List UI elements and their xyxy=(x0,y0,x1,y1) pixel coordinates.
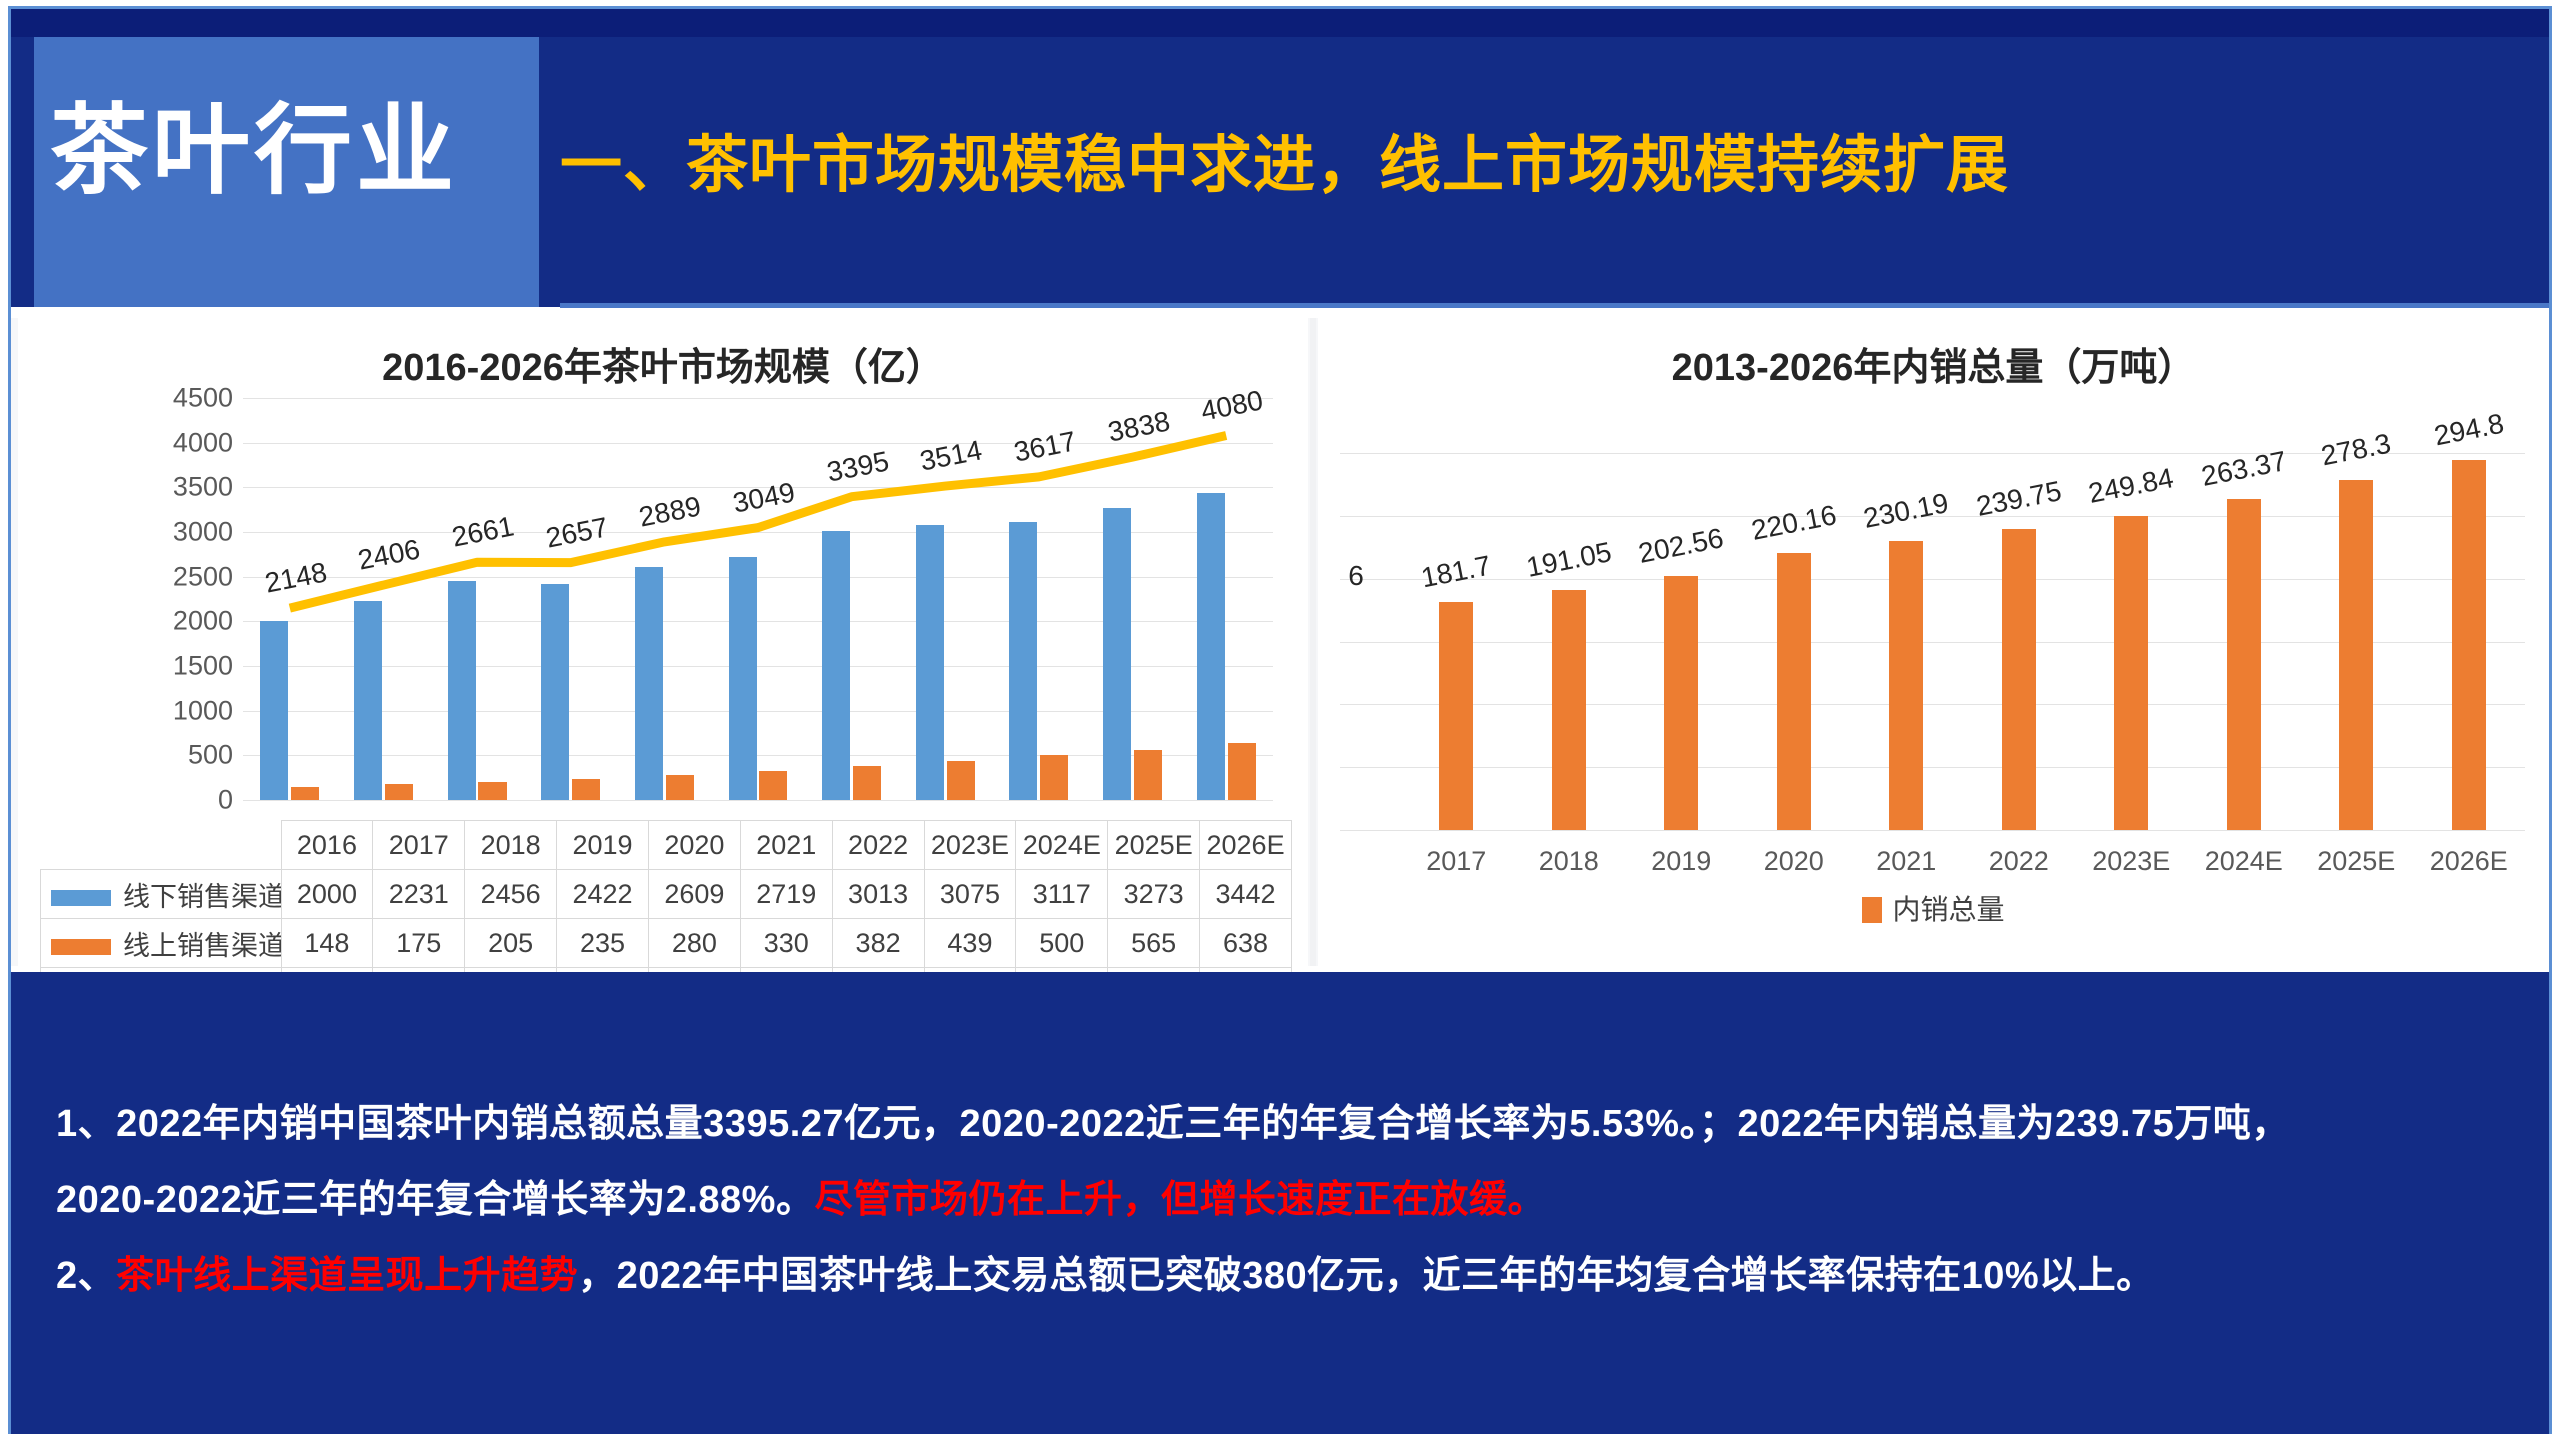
brand-title: 茶叶行业 xyxy=(50,80,530,220)
chart-domestic-sales: 2013-2026年内销总量（万吨） 6181.72017191.0520182… xyxy=(1318,318,2549,966)
bar-domestic-sales xyxy=(1439,602,1473,830)
table-cell: 382 xyxy=(832,919,924,968)
x-axis-tick: 2022 xyxy=(1989,846,2049,877)
table-header-cell: 2021 xyxy=(740,821,832,870)
total-line-series xyxy=(243,398,1273,800)
table-row-header: 20162017201820192020202120222023E2024E20… xyxy=(41,821,1292,870)
table-cell: 330 xyxy=(740,919,832,968)
bar-domestic-sales xyxy=(2114,516,2148,830)
chart-market-size: 2016-2026年茶叶市场规模（亿） 05001000150020002500… xyxy=(18,318,1308,966)
table-cell: 235 xyxy=(557,919,649,968)
page-title: 一、茶叶市场规模稳中求进，线上市场规模持续扩展 xyxy=(560,120,2460,212)
note-3-suffix: ，2022年中国茶叶线上交易总额已突破380亿元，近三年的年均复合增长率保持在1… xyxy=(578,1255,2155,1297)
clipped-value-label: 6 xyxy=(1348,560,1364,592)
legend-label: 内销总量 xyxy=(1892,894,2004,925)
note-line-1: 1、2022年内销中国茶叶内销总额总量3395.27亿元，2020-2022近三… xyxy=(56,1092,2290,1147)
table-cell: 175 xyxy=(373,919,465,968)
y-axis-tick: 4500 xyxy=(173,383,233,414)
bar-domestic-sales xyxy=(2227,499,2261,830)
bar-domestic-sales xyxy=(1777,553,1811,830)
x-axis-tick: 2017 xyxy=(1426,846,1486,877)
y-axis-tick: 2000 xyxy=(173,606,233,637)
chart-right-legend: 内销总量 xyxy=(1318,888,2549,928)
table-cell: 3117 xyxy=(1016,870,1108,919)
table-row-header-cell: 线下销售渠道 xyxy=(41,870,282,919)
x-axis-tick: 2025E xyxy=(2317,846,2395,877)
legend-swatch-icon xyxy=(1862,897,1882,923)
series-name-label: 线上销售渠道 xyxy=(123,931,281,961)
table-header-cell: 2020 xyxy=(648,821,740,870)
bar-value-label: 230.19 xyxy=(1861,487,1951,535)
table-header-cell: 2016 xyxy=(281,821,373,870)
x-axis-tick: 2023E xyxy=(2092,846,2170,877)
bar-domestic-sales xyxy=(2339,480,2373,830)
table-header-cell: 2026E xyxy=(1200,821,1292,870)
table-header-cell: 2017 xyxy=(373,821,465,870)
bar-domestic-sales xyxy=(2002,529,2036,830)
gridline xyxy=(1340,830,2525,831)
table-header-cell: 2018 xyxy=(465,821,557,870)
table-cell: 565 xyxy=(1108,919,1200,968)
y-axis-tick: 4000 xyxy=(173,427,233,458)
table-cell: 205 xyxy=(465,919,557,968)
table-cell: 148 xyxy=(281,919,373,968)
table-cell: 3013 xyxy=(832,870,924,919)
table-cell: 3075 xyxy=(924,870,1016,919)
table-row: 线上销售渠道148175205235280330382439500565638 xyxy=(41,919,1292,968)
note-line-2: 2020-2022近三年的年复合增长率为2.88%。尽管市场仍在上升，但增长速度… xyxy=(56,1168,1546,1223)
table-header-cell: 2024E xyxy=(1016,821,1108,870)
table-cell: 3442 xyxy=(1200,870,1292,919)
note-1-text: 1、2022年内销中国茶叶内销总额总量3395.27亿元，2020-2022近三… xyxy=(56,1103,2290,1145)
x-axis-tick: 2026E xyxy=(2430,846,2508,877)
bar-value-label: 202.56 xyxy=(1636,522,1726,570)
table-cell: 500 xyxy=(1016,919,1108,968)
table-cell: 280 xyxy=(648,919,740,968)
y-axis-tick: 1500 xyxy=(173,651,233,682)
gridline xyxy=(243,800,1273,801)
x-axis-tick: 2020 xyxy=(1764,846,1824,877)
note-3-highlight: 茶叶线上渠道呈现上升趋势 xyxy=(116,1255,578,1297)
y-axis-tick: 3500 xyxy=(173,472,233,503)
table-row-header-cell: 线上销售渠道 xyxy=(41,919,282,968)
bar-domestic-sales xyxy=(2452,460,2486,830)
y-axis-tick: 0 xyxy=(218,785,233,816)
table-cell: 2000 xyxy=(281,870,373,919)
series-name-label: 线下销售渠道 xyxy=(123,882,281,912)
table-header-cell: 2025E xyxy=(1108,821,1200,870)
header-underline xyxy=(560,303,2549,308)
bar-value-label: 249.84 xyxy=(2086,462,2176,510)
bar-value-label: 278.3 xyxy=(2319,428,2394,473)
chart-right-title: 2013-2026年内销总量（万吨） xyxy=(1318,336,2549,391)
chart-right-plot: 6181.72017191.052018202.562019220.162020… xyxy=(1340,428,2525,830)
x-axis-tick: 2024E xyxy=(2205,846,2283,877)
table-cell: 439 xyxy=(924,919,1016,968)
table-header-cell: 2019 xyxy=(557,821,649,870)
bar-value-label: 294.8 xyxy=(2431,407,2506,452)
table-cell: 2719 xyxy=(740,870,832,919)
table-header-cell: 2023E xyxy=(924,821,1016,870)
note-line-3: 2、茶叶线上渠道呈现上升趋势，2022年中国茶叶线上交易总额已突破380亿元，近… xyxy=(56,1244,2155,1299)
table-cell: 2422 xyxy=(557,870,649,919)
table-cell: 2609 xyxy=(648,870,740,919)
slide: 茶叶行业 一、茶叶市场规模稳中求进，线上市场规模持续扩展 2016-2026年茶… xyxy=(0,0,2560,1440)
chart-divider xyxy=(1310,318,1316,966)
x-axis-tick: 2018 xyxy=(1539,846,1599,877)
chart-left-plot: 0500100015002000250030003500400045002148… xyxy=(243,398,1273,800)
table-corner-cell xyxy=(41,821,282,870)
bar-value-label: 191.05 xyxy=(1524,536,1614,584)
bar-value-label: 181.7 xyxy=(1419,549,1494,594)
note-2-text: 2020-2022近三年的年复合增长率为2.88%。 xyxy=(56,1179,814,1221)
table-cell: 638 xyxy=(1200,919,1292,968)
bar-domestic-sales xyxy=(1552,590,1586,830)
table-row: 线下销售渠道2000223124562422260927193013307531… xyxy=(41,870,1292,919)
bar-domestic-sales xyxy=(1889,541,1923,830)
table-header-cell: 2022 xyxy=(832,821,924,870)
series-swatch-icon xyxy=(51,890,111,906)
table-cell: 2231 xyxy=(373,870,465,919)
x-axis-tick: 2021 xyxy=(1876,846,1936,877)
bar-value-label: 220.16 xyxy=(1749,500,1839,548)
y-axis-tick: 500 xyxy=(188,740,233,771)
series-swatch-icon xyxy=(51,939,111,955)
bar-domestic-sales xyxy=(1664,576,1698,830)
note-2-highlight: 尽管市场仍在上升，但增长速度正在放缓。 xyxy=(814,1179,1546,1221)
y-axis-tick: 2500 xyxy=(173,561,233,592)
note-3-prefix: 2、 xyxy=(56,1255,116,1297)
table-cell: 2456 xyxy=(465,870,557,919)
y-axis-tick: 3000 xyxy=(173,517,233,548)
y-axis-tick: 1000 xyxy=(173,695,233,726)
header-top-band xyxy=(11,9,2549,37)
table-cell: 3273 xyxy=(1108,870,1200,919)
x-axis-tick: 2019 xyxy=(1651,846,1711,877)
